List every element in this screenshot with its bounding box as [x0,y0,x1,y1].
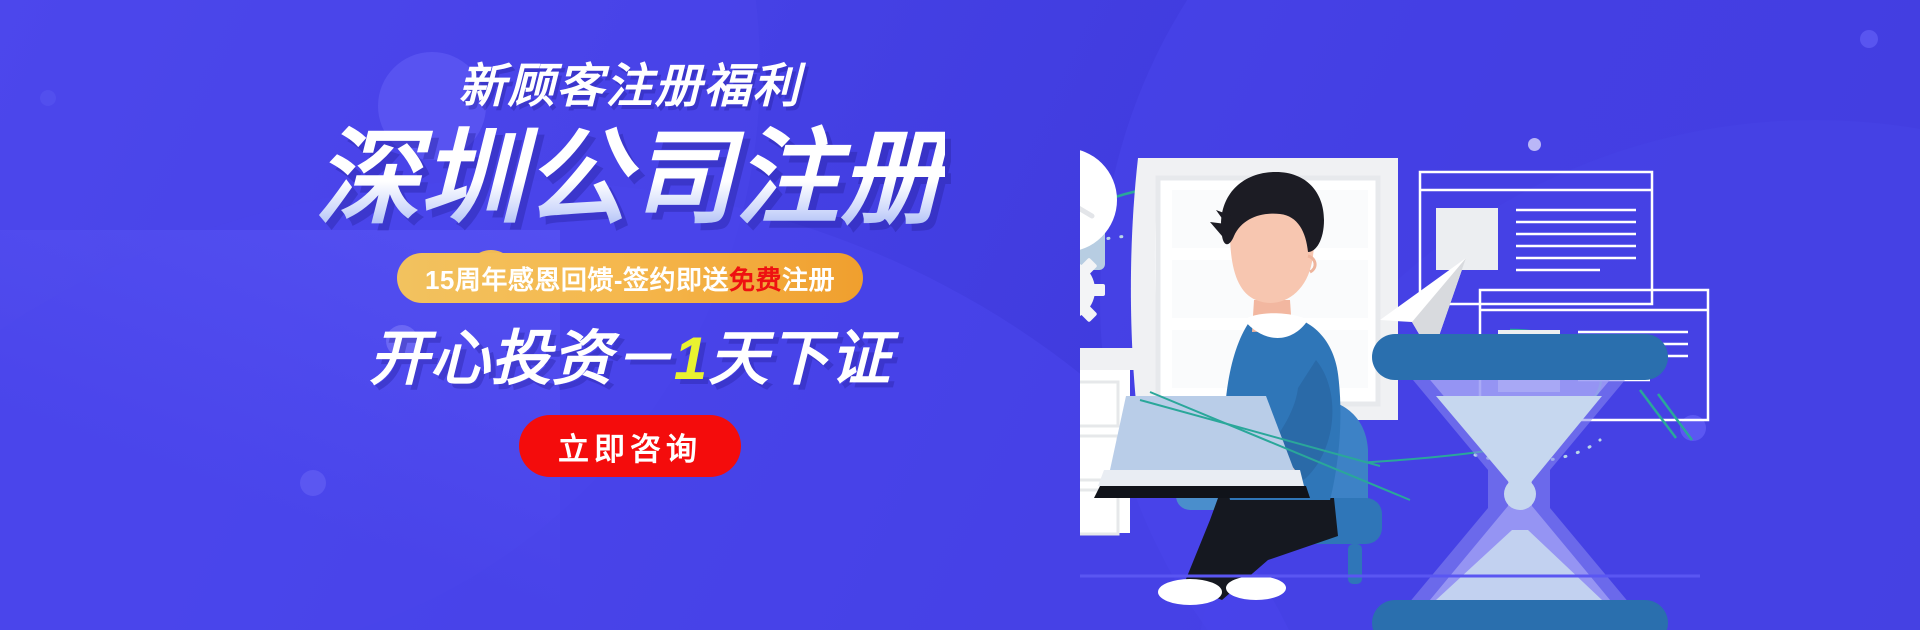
badge-suffix: 注册 [782,260,835,297]
illustration [1080,0,1920,630]
page-title: 深圳公司注册 [315,123,945,235]
headline-group: 新顾客注册福利 深圳公司注册 15周年感恩回馈-签约即送免费注册 开心投资－1天… [300,46,960,586]
clock-icon [1080,148,1117,252]
hourglass-icon [1372,334,1668,630]
tagline: 开心投资－1天下证 [369,329,891,389]
decorative-dot-left [40,90,56,106]
tagline-number: 1 [674,325,708,392]
tagline-before: 开心投资－ [369,325,674,392]
document-lines-icon [1516,210,1636,270]
hourglass-sparkle-icon [1640,390,1692,440]
badge-highlight: 免费 [729,260,782,297]
promo-banner: 新顾客注册福利 深圳公司注册 15周年感恩回馈-签约即送免费注册 开心投资－1天… [0,0,1920,630]
promo-badge: 15周年感恩回馈-签约即送免费注册 [397,253,863,303]
document-thumb-icon [1436,208,1498,270]
consult-now-button[interactable]: 立即咨询 [519,415,741,477]
badge-prefix: 15周年感恩回馈-签约即送 [425,260,729,297]
eyebrow-text: 新顾客注册福利 [459,62,802,109]
tagline-after: 天下证 [708,325,891,392]
